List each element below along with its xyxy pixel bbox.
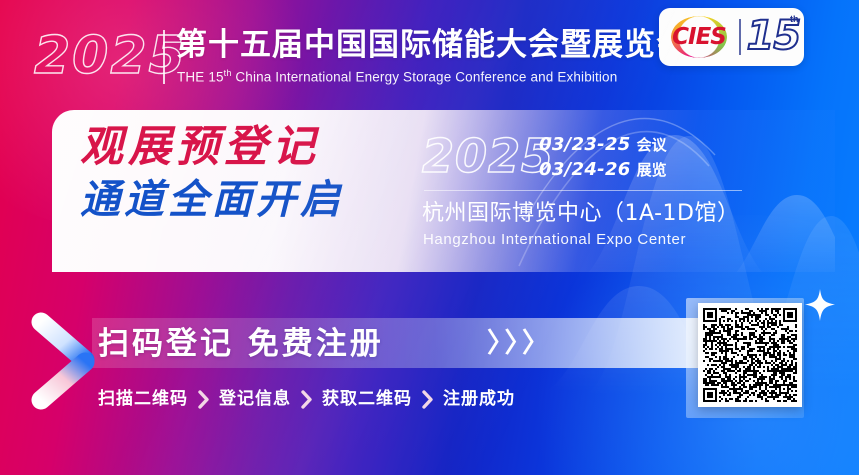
panel-headline-secondary: 通道全面开启: [80, 176, 344, 224]
chevron-right-icon: [421, 390, 434, 409]
banner-header: 2025 第十五届中国国际储能大会暨展览会 THE 15th China Int…: [0, 0, 859, 108]
header-title-en-rest: China International Energy Storage Confe…: [231, 70, 617, 85]
header-title-cn: 第十五届中国国际储能大会暨展览会: [176, 28, 688, 62]
step-4-label: 注册成功: [443, 388, 515, 410]
venue-name-en: Hangzhou International Expo Center: [423, 230, 686, 250]
panel-year: 2025: [422, 132, 554, 180]
step-1-label: 扫描二维码: [98, 388, 188, 410]
registration-steps: 扫描二维码 登记信息 获取二维码 注册成功: [98, 388, 515, 410]
exhibition-date: 03/24-26: [539, 159, 631, 180]
qr-code-icon[interactable]: [698, 303, 802, 407]
step-3-label: 获取二维码: [322, 388, 412, 410]
panel-headline-primary: 观展预登记: [80, 122, 320, 172]
conference-date-label: 会议: [637, 134, 667, 155]
header-title-en-prefix: THE 15: [177, 70, 224, 85]
exhibition-date-label: 展览: [637, 159, 667, 180]
panel-rule: [424, 190, 742, 191]
cies-logo: CIES 15 th: [659, 8, 804, 66]
step-2-label: 登记信息: [219, 388, 291, 410]
double-chevron-right-icon: [28, 305, 102, 417]
qr-code-canvas: [703, 308, 797, 402]
cies-logo-edition: 15 th: [741, 8, 803, 66]
event-date-row: 03/24-26 展览: [539, 159, 667, 184]
sparkle-icon: [805, 289, 835, 321]
header-divider: [163, 30, 165, 84]
cies-edition-ordinal: th: [790, 14, 799, 24]
event-date-row: 03/23-25 会议: [539, 134, 667, 159]
header-title-en: THE 15th China International Energy Stor…: [177, 65, 617, 86]
registration-banner: 2025 第十五届中国国际储能大会暨展览会 THE 15th China Int…: [0, 0, 859, 475]
highlight-panel: 观展预登记 通道全面开启 2025 03/23-25 会议 03/24-26 展…: [52, 110, 835, 272]
conference-date: 03/23-25: [539, 134, 631, 155]
venue-name-cn: 杭州国际博览中心（1A-1D馆）: [422, 200, 739, 228]
cies-logo-text: CIES: [672, 24, 726, 50]
cies-logo-mark: CIES: [659, 8, 739, 66]
cta-arrows-icon: 〉〉〉: [487, 327, 553, 361]
chevron-right-icon: [300, 390, 313, 409]
cta-headline: 扫码登记 免费注册: [98, 325, 384, 363]
event-dates: 03/23-25 会议 03/24-26 展览: [539, 134, 667, 184]
chevron-right-icon: [197, 390, 210, 409]
